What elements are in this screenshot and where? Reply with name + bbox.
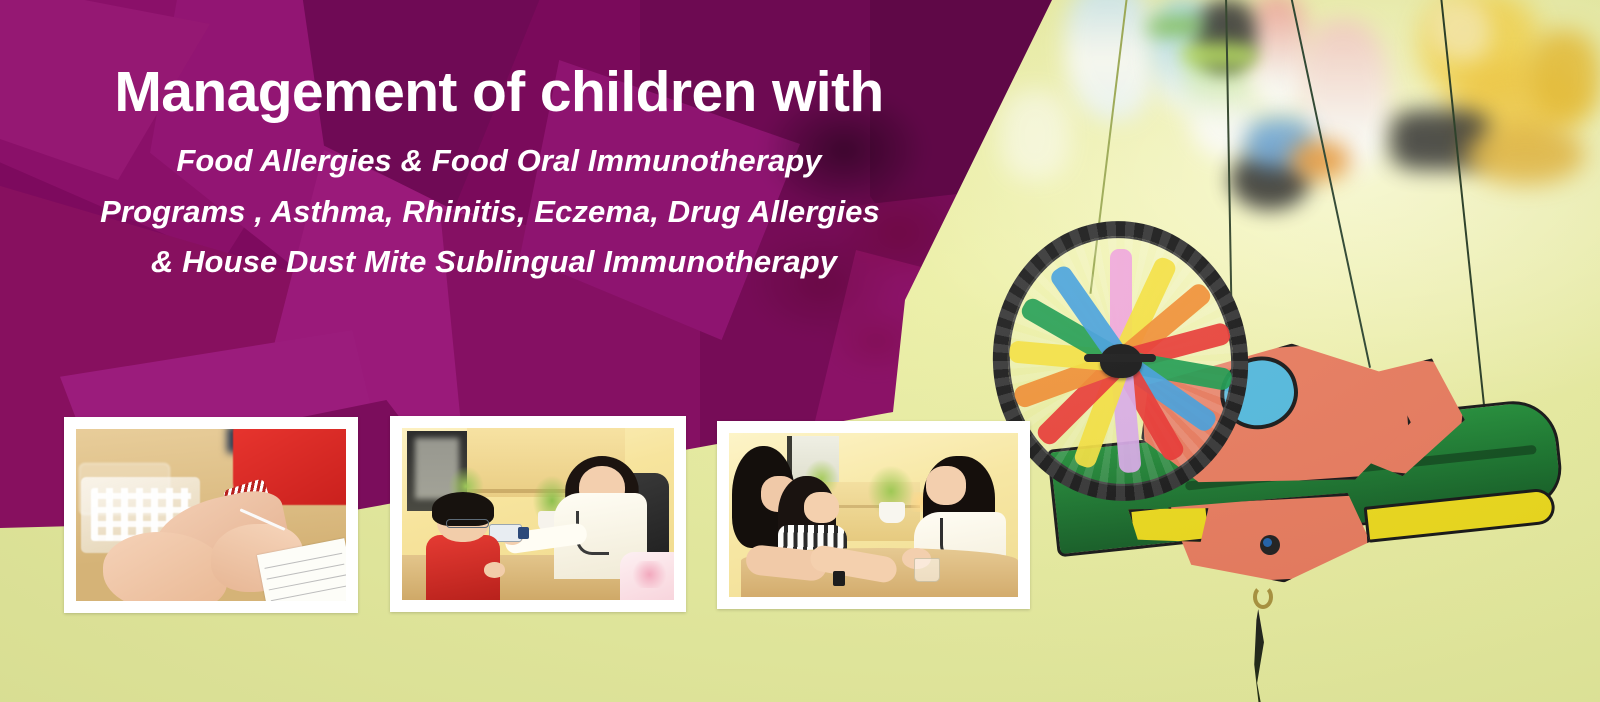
boy-hand <box>484 562 506 577</box>
headline-main: Management of children with <box>0 62 980 122</box>
inhaler-demonstration-photo <box>402 428 674 600</box>
toy-hook <box>1253 585 1273 609</box>
headline-line-2: Programs , Asthma, Rhinitis, Eczema, Dru… <box>0 187 980 237</box>
blurred-wall-decal <box>1430 0 1490 60</box>
glass-cup <box>914 558 940 583</box>
pinwheel-airplane-toy <box>965 205 1585 675</box>
doctor-head <box>926 466 966 505</box>
boy-glasses <box>446 519 490 528</box>
toy-belly-dot <box>1260 535 1280 555</box>
blurred-wall-decal <box>1146 16 1206 36</box>
skin-prick-test-photo <box>76 429 346 601</box>
pink-cushion <box>620 552 674 600</box>
blurred-wall-decal <box>1180 42 1258 68</box>
headline-line-3: & House Dust Mite Sublingual Immunothera… <box>0 237 980 287</box>
plant-pot <box>879 502 905 523</box>
blurred-wall-decal <box>1530 30 1600 120</box>
thumbnail-inhaler-demonstration[interactable] <box>390 416 686 612</box>
girl-head <box>804 492 839 523</box>
headline-block: Management of children with Food Allergi… <box>0 62 980 287</box>
pinwheel-fan <box>1005 235 1237 487</box>
thumbnail-skin-prick-test[interactable] <box>64 417 358 613</box>
headline-subtitle: Food Allergies & Food Oral Immunotherapy… <box>0 122 980 287</box>
wrist-band <box>833 571 845 586</box>
pinwheel-hub <box>1100 344 1142 378</box>
thumbnail-family-consultation[interactable] <box>717 421 1030 609</box>
headline-line-1: Food Allergies & Food Oral Immunotherapy <box>0 136 980 186</box>
blurred-wall-decal <box>1000 90 1070 180</box>
blurred-wall-decal <box>1465 125 1585 185</box>
consultation-photo <box>729 433 1018 597</box>
blurred-wall-decal <box>1290 140 1350 180</box>
allergy-clinic-banner: Management of children with Food Allergi… <box>0 0 1600 702</box>
